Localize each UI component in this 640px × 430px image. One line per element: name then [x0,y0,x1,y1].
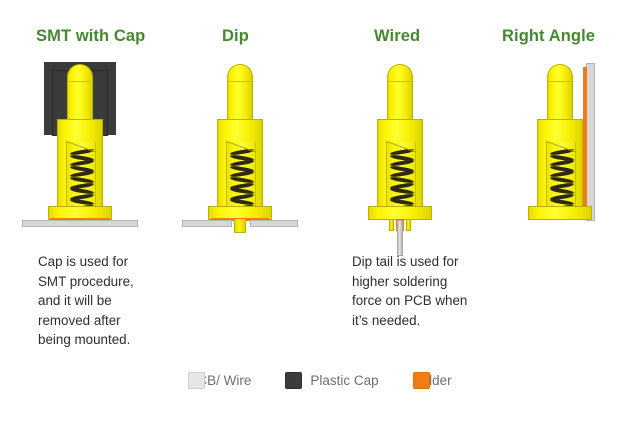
barrel-chamfer-line [546,140,577,152]
pcb-substrate-vertical [586,63,595,221]
barrel-body [537,119,583,211]
illustration-dip [160,55,320,245]
barrel-flange [528,206,592,220]
column-title-dip: Dip [160,27,320,46]
plunger-tip-line [68,81,92,82]
barrel-cavity [546,142,576,212]
legend-label-plastic-cap: Plastic Cap [310,373,378,388]
legend-item-solder: Solder [413,373,452,388]
variant-column-wired: Wired Wire can be soldered onto a drille… [320,0,480,365]
barrel-body [217,119,263,211]
dip-hole-leg-right [406,219,411,231]
variant-column-smt-with-cap: SMT with Cap Cap is used for SMT procedu… [0,0,160,365]
legend: PCB/ Wire Plastic Cap Solder [0,372,640,389]
legend-item-plastic-cap: Plastic Cap [285,372,378,389]
plunger-rod [227,64,253,120]
dip-tail [234,219,246,233]
plunger-tip-line [548,81,572,82]
wire-lead [397,220,403,256]
dip-hole-leg-left [389,219,394,231]
barrel-cavity [386,142,416,212]
barrel-cavity [226,142,256,212]
column-title-right-angle: Right Angle [480,27,640,46]
variant-column-dip: Dip Dip tail is used for higher solderin… [160,0,320,365]
figure-canvas: SMT with Cap Cap is used for SMT procedu… [0,0,640,430]
barrel-chamfer-line [386,140,417,152]
spring-coil [70,150,94,212]
solder-strip [583,67,587,219]
plunger-tip-line [388,81,412,82]
variant-column-right-angle: Right Angle Side of square tube can be s… [480,0,640,365]
plunger-rod [387,64,413,120]
spring-coil [230,150,254,212]
column-title-smt-with-cap: SMT with Cap [0,27,160,46]
pcb-substrate-right [250,220,298,227]
barrel-body [377,119,423,211]
spring-coil [390,150,414,212]
spring-coil [550,150,574,212]
legend-swatch-solder [413,372,430,389]
illustration-right-angle [480,55,640,245]
barrel-flange [368,206,432,220]
pcb-substrate [22,220,138,227]
column-title-wired: Wired [320,27,480,46]
illustration-smt-with-cap [0,55,160,245]
barrel-chamfer-line [226,140,257,152]
legend-swatch-plastic-cap [285,372,302,389]
barrel-cavity [66,142,96,212]
plunger-rod [547,64,573,120]
legend-item-pcb-wire: PCB/ Wire [188,373,251,388]
column-description-smt-with-cap: Cap is used for SMT procedure, and it wi… [38,252,162,350]
legend-swatch-pcb-wire [188,372,205,389]
pcb-substrate-left [182,220,232,227]
plunger-tip-line [228,81,252,82]
illustration-wired [320,55,480,245]
barrel-body [57,119,103,211]
plunger-rod [67,64,93,120]
barrel-chamfer-line [66,140,97,152]
